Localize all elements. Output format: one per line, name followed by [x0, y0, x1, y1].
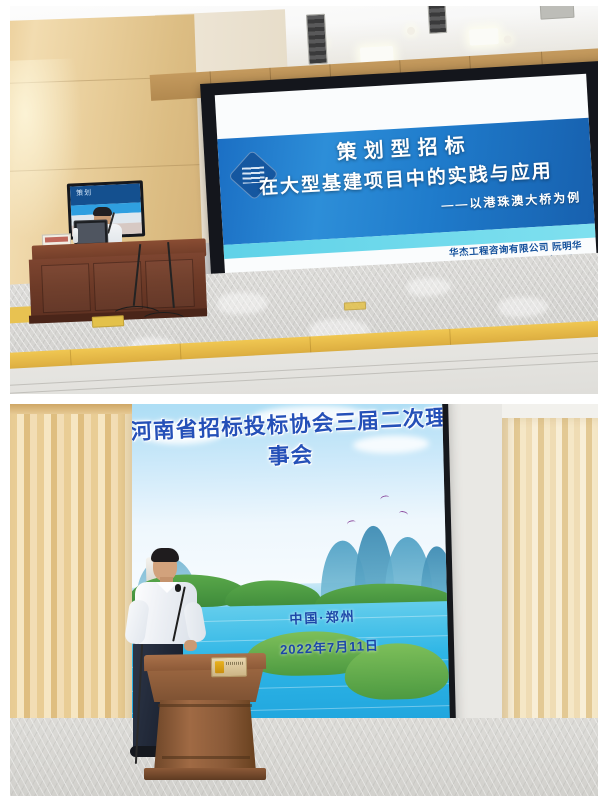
hall-floor-carpet [10, 718, 598, 796]
podium-lectern-surface [144, 653, 266, 671]
photo-collage-page: 策划型招标 在大型基建项目中的实践与应用 ——以港珠澳大桥为例 华杰工程咨询有限… [0, 0, 600, 800]
air-vent-grille [306, 14, 328, 65]
floor-cable-loop [140, 312, 188, 332]
podium-trim-stripe [158, 704, 252, 707]
podium-base [144, 768, 266, 780]
curtain-right [502, 418, 598, 734]
side-monitor-text: 策划 [76, 188, 92, 199]
air-vent-grille [427, 6, 447, 34]
led-backdrop-location: 中国·郑州 [289, 606, 356, 628]
cable-tape-cover [344, 301, 366, 310]
curtain-left [10, 404, 132, 734]
podium-trim-stripe [162, 756, 250, 759]
cable-tape-cover [92, 315, 125, 328]
photo-led-stage: 河南省招标投标协会三届二次理事会 中国·郑州 2022年7月11日 [10, 404, 598, 796]
microphone-head [175, 584, 181, 592]
photo-seminar-hall: 策划型招标 在大型基建项目中的实践与应用 ——以港珠澳大桥为例 华杰工程咨询有限… [10, 6, 598, 394]
speaker-hair [151, 548, 179, 562]
air-vent [539, 6, 574, 20]
ceiling-light [469, 28, 499, 46]
podium-plaque [211, 657, 247, 678]
speaker-hand [184, 640, 197, 651]
water-bottle [73, 228, 78, 243]
projection-slide: 策划型招标 在大型基建项目中的实践与应用 ——以港珠澳大桥为例 华杰工程咨询有限… [215, 74, 597, 285]
photo-gutter [0, 394, 600, 404]
seated-speaker-hair [93, 207, 112, 216]
podium-body [154, 700, 256, 772]
